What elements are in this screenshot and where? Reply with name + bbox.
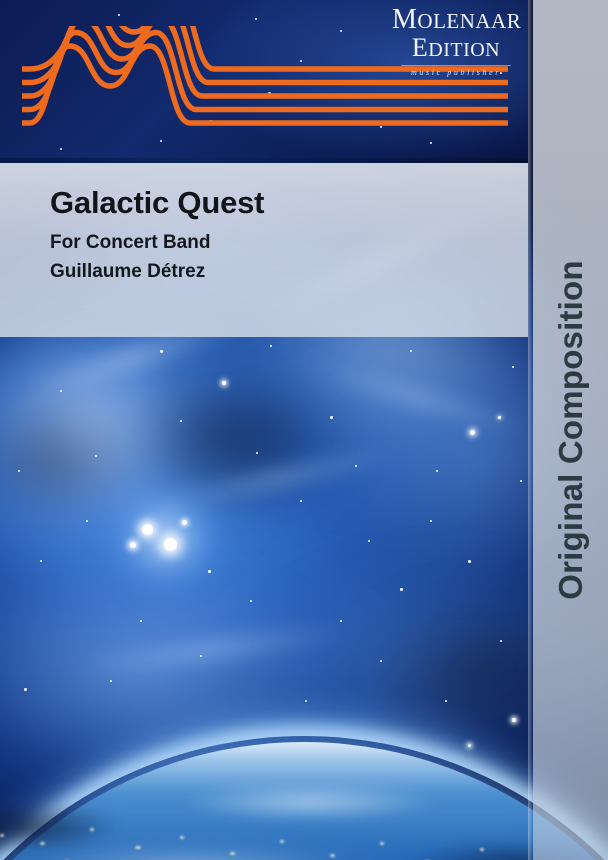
composer-label: Guillaume Détrez (50, 259, 518, 285)
series-sidebar: Original Composition (533, 0, 608, 860)
publisher-name-line1: MOLENAAR (392, 6, 520, 34)
sheet-music-cover: MOLENAAR EDITION music publisher Galacti… (0, 0, 608, 860)
header-band: MOLENAAR EDITION music publisher (0, 0, 528, 158)
instrumentation-label: For Concert Band (50, 230, 518, 256)
earth-landmass (0, 800, 120, 854)
publisher-divider (401, 65, 511, 66)
star-cluster (128, 514, 198, 560)
series-label: Original Composition (552, 260, 590, 600)
publisher-name-line2: EDITION (392, 35, 520, 61)
page-title: Galactic Quest (50, 187, 518, 220)
publisher-tagline: music publisher (392, 68, 520, 77)
earth-cloud (180, 782, 440, 822)
title-band: Galactic Quest For Concert Band Guillaum… (0, 163, 528, 337)
publisher-wordmark: MOLENAAR EDITION music publisher (392, 6, 520, 77)
